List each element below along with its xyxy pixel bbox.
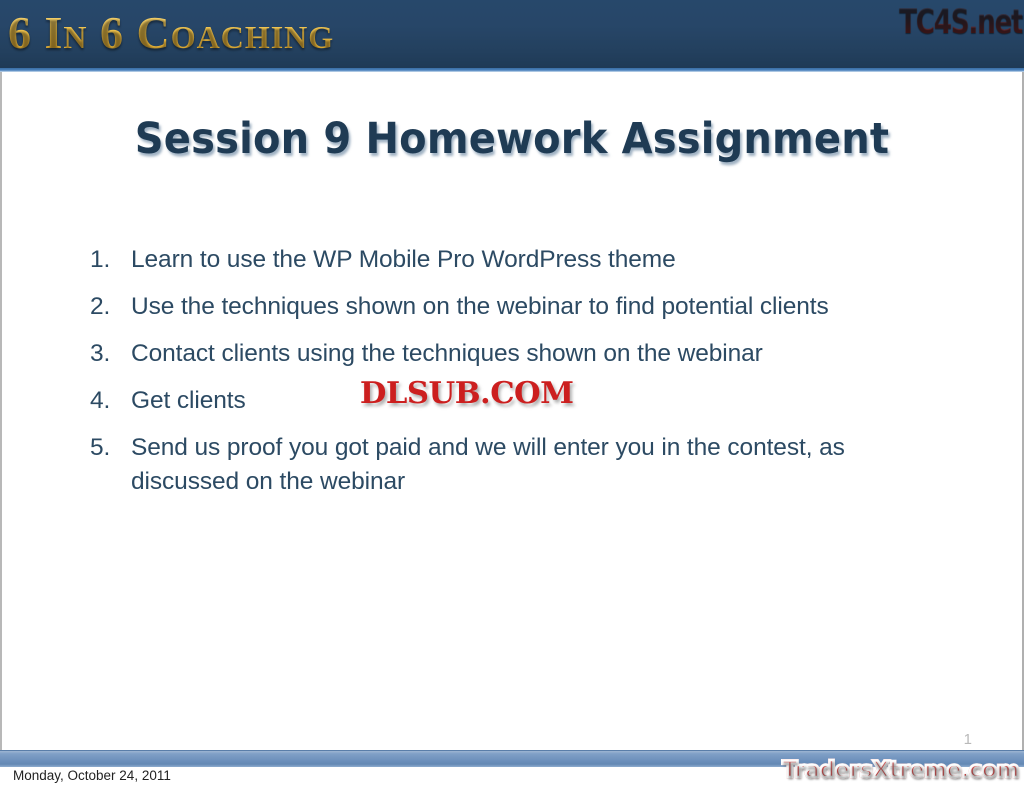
list-item: 5. Send us proof you got paid and we wil… [90, 431, 970, 499]
list-item-label: Use the techniques shown on the webinar … [131, 290, 951, 324]
list-item-number: 2. [90, 290, 131, 324]
page-title: Session 9 Homework Assignment [36, 114, 988, 164]
list-item: 2. Use the techniques shown on the webin… [90, 290, 970, 324]
list-item-label: Learn to use the WP Mobile Pro WordPress… [131, 243, 951, 277]
list-item-number: 1. [90, 243, 131, 277]
list-item-label: Send us proof you got paid and we will e… [131, 431, 951, 499]
slide-header-bar: 6 In 6 Coaching TC4S.net [0, 0, 1024, 72]
list-item: 3. Contact clients using the techniques … [90, 337, 970, 371]
list-item-label: Contact clients using the techniques sho… [131, 337, 951, 371]
footer-date: Monday, October 24, 2011 [13, 768, 171, 783]
dlsub-watermark: DLSUB.COM [360, 376, 574, 411]
tradersxtreme-watermark: TradersXtreme.com [782, 758, 1019, 783]
list-item-number: 3. [90, 337, 131, 371]
list-item-number: 5. [90, 431, 131, 465]
brand-title: 6 In 6 Coaching [8, 6, 334, 59]
list-item: 1. Learn to use the WP Mobile Pro WordPr… [90, 243, 970, 277]
tc4s-logo: TC4S.net [899, 2, 1022, 42]
list-item-number: 4. [90, 384, 131, 418]
presentation-slide: 6 In 6 Coaching TC4S.net Session 9 Homew… [0, 0, 1024, 788]
page-number: 1 [964, 731, 972, 748]
